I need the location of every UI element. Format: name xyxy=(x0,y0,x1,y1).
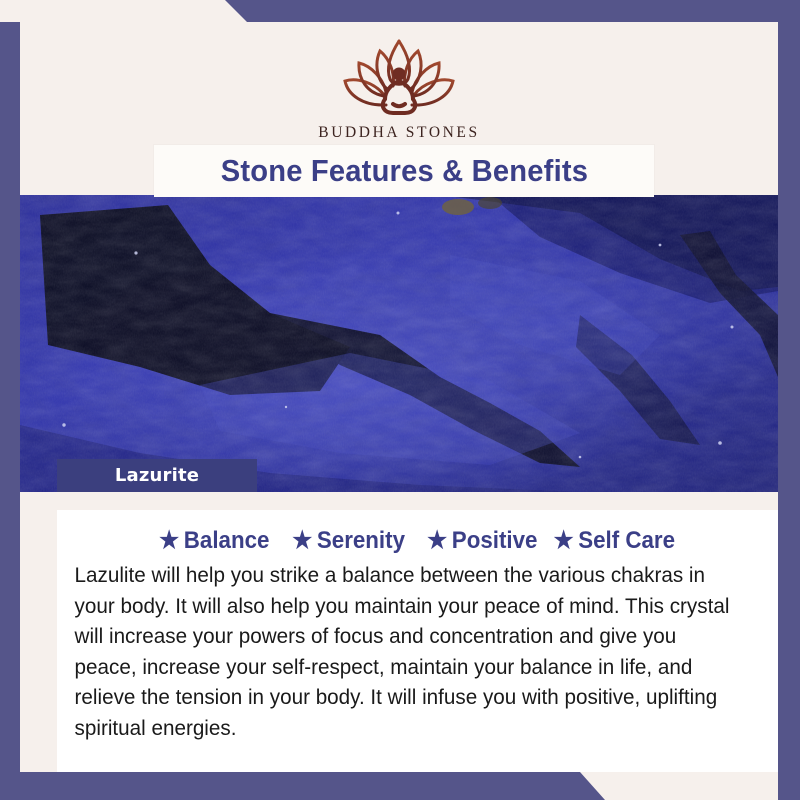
photo-content-divider xyxy=(20,492,778,510)
stone-description: Lazulite will help you strike a balance … xyxy=(57,561,760,744)
stone-photo: Lazurite xyxy=(20,195,778,492)
keyword-item-positive: ★ Positive xyxy=(427,527,537,555)
keyword-item-balance: ★ Balance xyxy=(159,527,269,555)
star-icon: ★ xyxy=(292,529,312,553)
stone-name-badge: Lazurite xyxy=(57,459,257,492)
keyword-label: Self Care xyxy=(579,527,676,555)
brand-logo: BUDDHA STONES xyxy=(20,30,778,142)
brand-name: BUDDHA STONES xyxy=(20,124,778,142)
section-title-banner: Stone Features & Benefits xyxy=(154,145,654,197)
keyword-label: Balance xyxy=(184,527,270,555)
frame-left-bar xyxy=(0,22,20,800)
keyword-list: ★ Balance ★ Serenity ★ Positive ★ Self C… xyxy=(57,510,778,555)
star-icon: ★ xyxy=(554,529,574,553)
keyword-label: Positive xyxy=(452,527,538,555)
inner-page: BUDDHA STONES Stone Features & Benefits xyxy=(20,22,778,772)
stone-name: Lazurite xyxy=(115,465,199,486)
lotus-meditation-figure-icon xyxy=(334,30,464,122)
keyword-item-serenity: ★ Serenity xyxy=(292,527,405,555)
page-title: Stone Features & Benefits xyxy=(220,153,587,189)
star-icon: ★ xyxy=(427,529,447,553)
stone-photo-render xyxy=(20,195,778,492)
content-card: ★ Balance ★ Serenity ★ Positive ★ Self C… xyxy=(57,510,778,772)
frame-right-bar xyxy=(778,0,800,800)
star-icon: ★ xyxy=(159,529,179,553)
frame-top-diagonal xyxy=(0,0,800,22)
poster-canvas: BUDDHA STONES Stone Features & Benefits xyxy=(0,0,800,800)
keyword-label: Serenity xyxy=(316,527,404,555)
keyword-item-self-care: ★ Self Care xyxy=(554,527,675,555)
